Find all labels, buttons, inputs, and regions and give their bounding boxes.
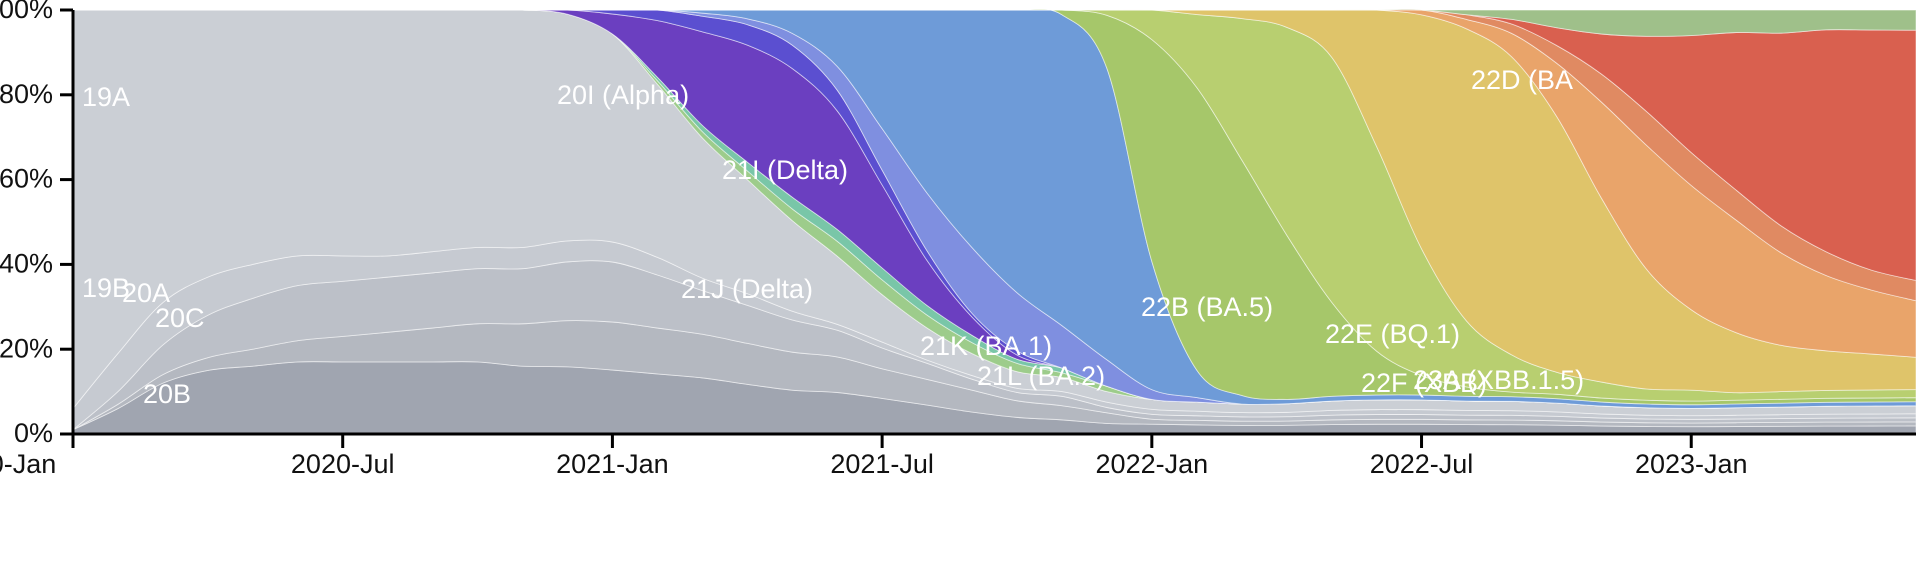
series-inline-label: 23A (XBB.1.5) xyxy=(1413,365,1584,395)
series-inline-label: 22E (BQ.1) xyxy=(1325,319,1460,349)
y-tick-label: 40% xyxy=(0,249,53,279)
x-tick-label: 2022-Jan xyxy=(1096,449,1209,479)
series-inline-label: 21I (Delta) xyxy=(722,155,848,185)
y-tick-label: 20% xyxy=(0,333,53,363)
x-tick-label: 2021-Jul xyxy=(830,449,934,479)
series-inline-label: 19A xyxy=(82,82,130,112)
y-tick-label: 80% xyxy=(0,79,53,109)
series-inline-label: 20C xyxy=(155,303,205,333)
series-inline-label: 21J (Delta) xyxy=(681,274,813,304)
x-tick-label: 2020-Jan xyxy=(0,449,56,479)
y-tick-label: 100% xyxy=(0,0,53,24)
y-tick-label: 0% xyxy=(14,418,53,448)
x-tick-label: 2021-Jan xyxy=(556,449,669,479)
series-inline-label: 21L (BA.2) xyxy=(977,361,1105,391)
series-inline-label: 20B xyxy=(143,379,191,409)
series-inline-label: 21K (BA.1) xyxy=(920,331,1052,361)
x-tick-label: 2022-Jul xyxy=(1370,449,1474,479)
series-inline-label: 20I (Alpha) xyxy=(557,80,689,110)
x-tick-label: 2020-Jul xyxy=(291,449,395,479)
series-inline-label: 22B (BA.5) xyxy=(1141,292,1273,322)
y-tick-labels-group: 0%20%40%60%80%100% xyxy=(0,0,73,448)
x-tick-labels-group: 2020-Jan2020-Jul2021-Jan2021-Jul2022-Jan… xyxy=(0,434,1748,479)
clade-frequency-stacked-area-chart: 0%20%40%60%80%100% 2020-Jan2020-Jul2021-… xyxy=(0,0,1916,582)
series-inline-label: 22D (BA xyxy=(1471,65,1573,95)
y-tick-label: 60% xyxy=(0,164,53,194)
x-tick-label: 2023-Jan xyxy=(1635,449,1748,479)
chart-canvas: 0%20%40%60%80%100% 2020-Jan2020-Jul2021-… xyxy=(0,0,1916,582)
